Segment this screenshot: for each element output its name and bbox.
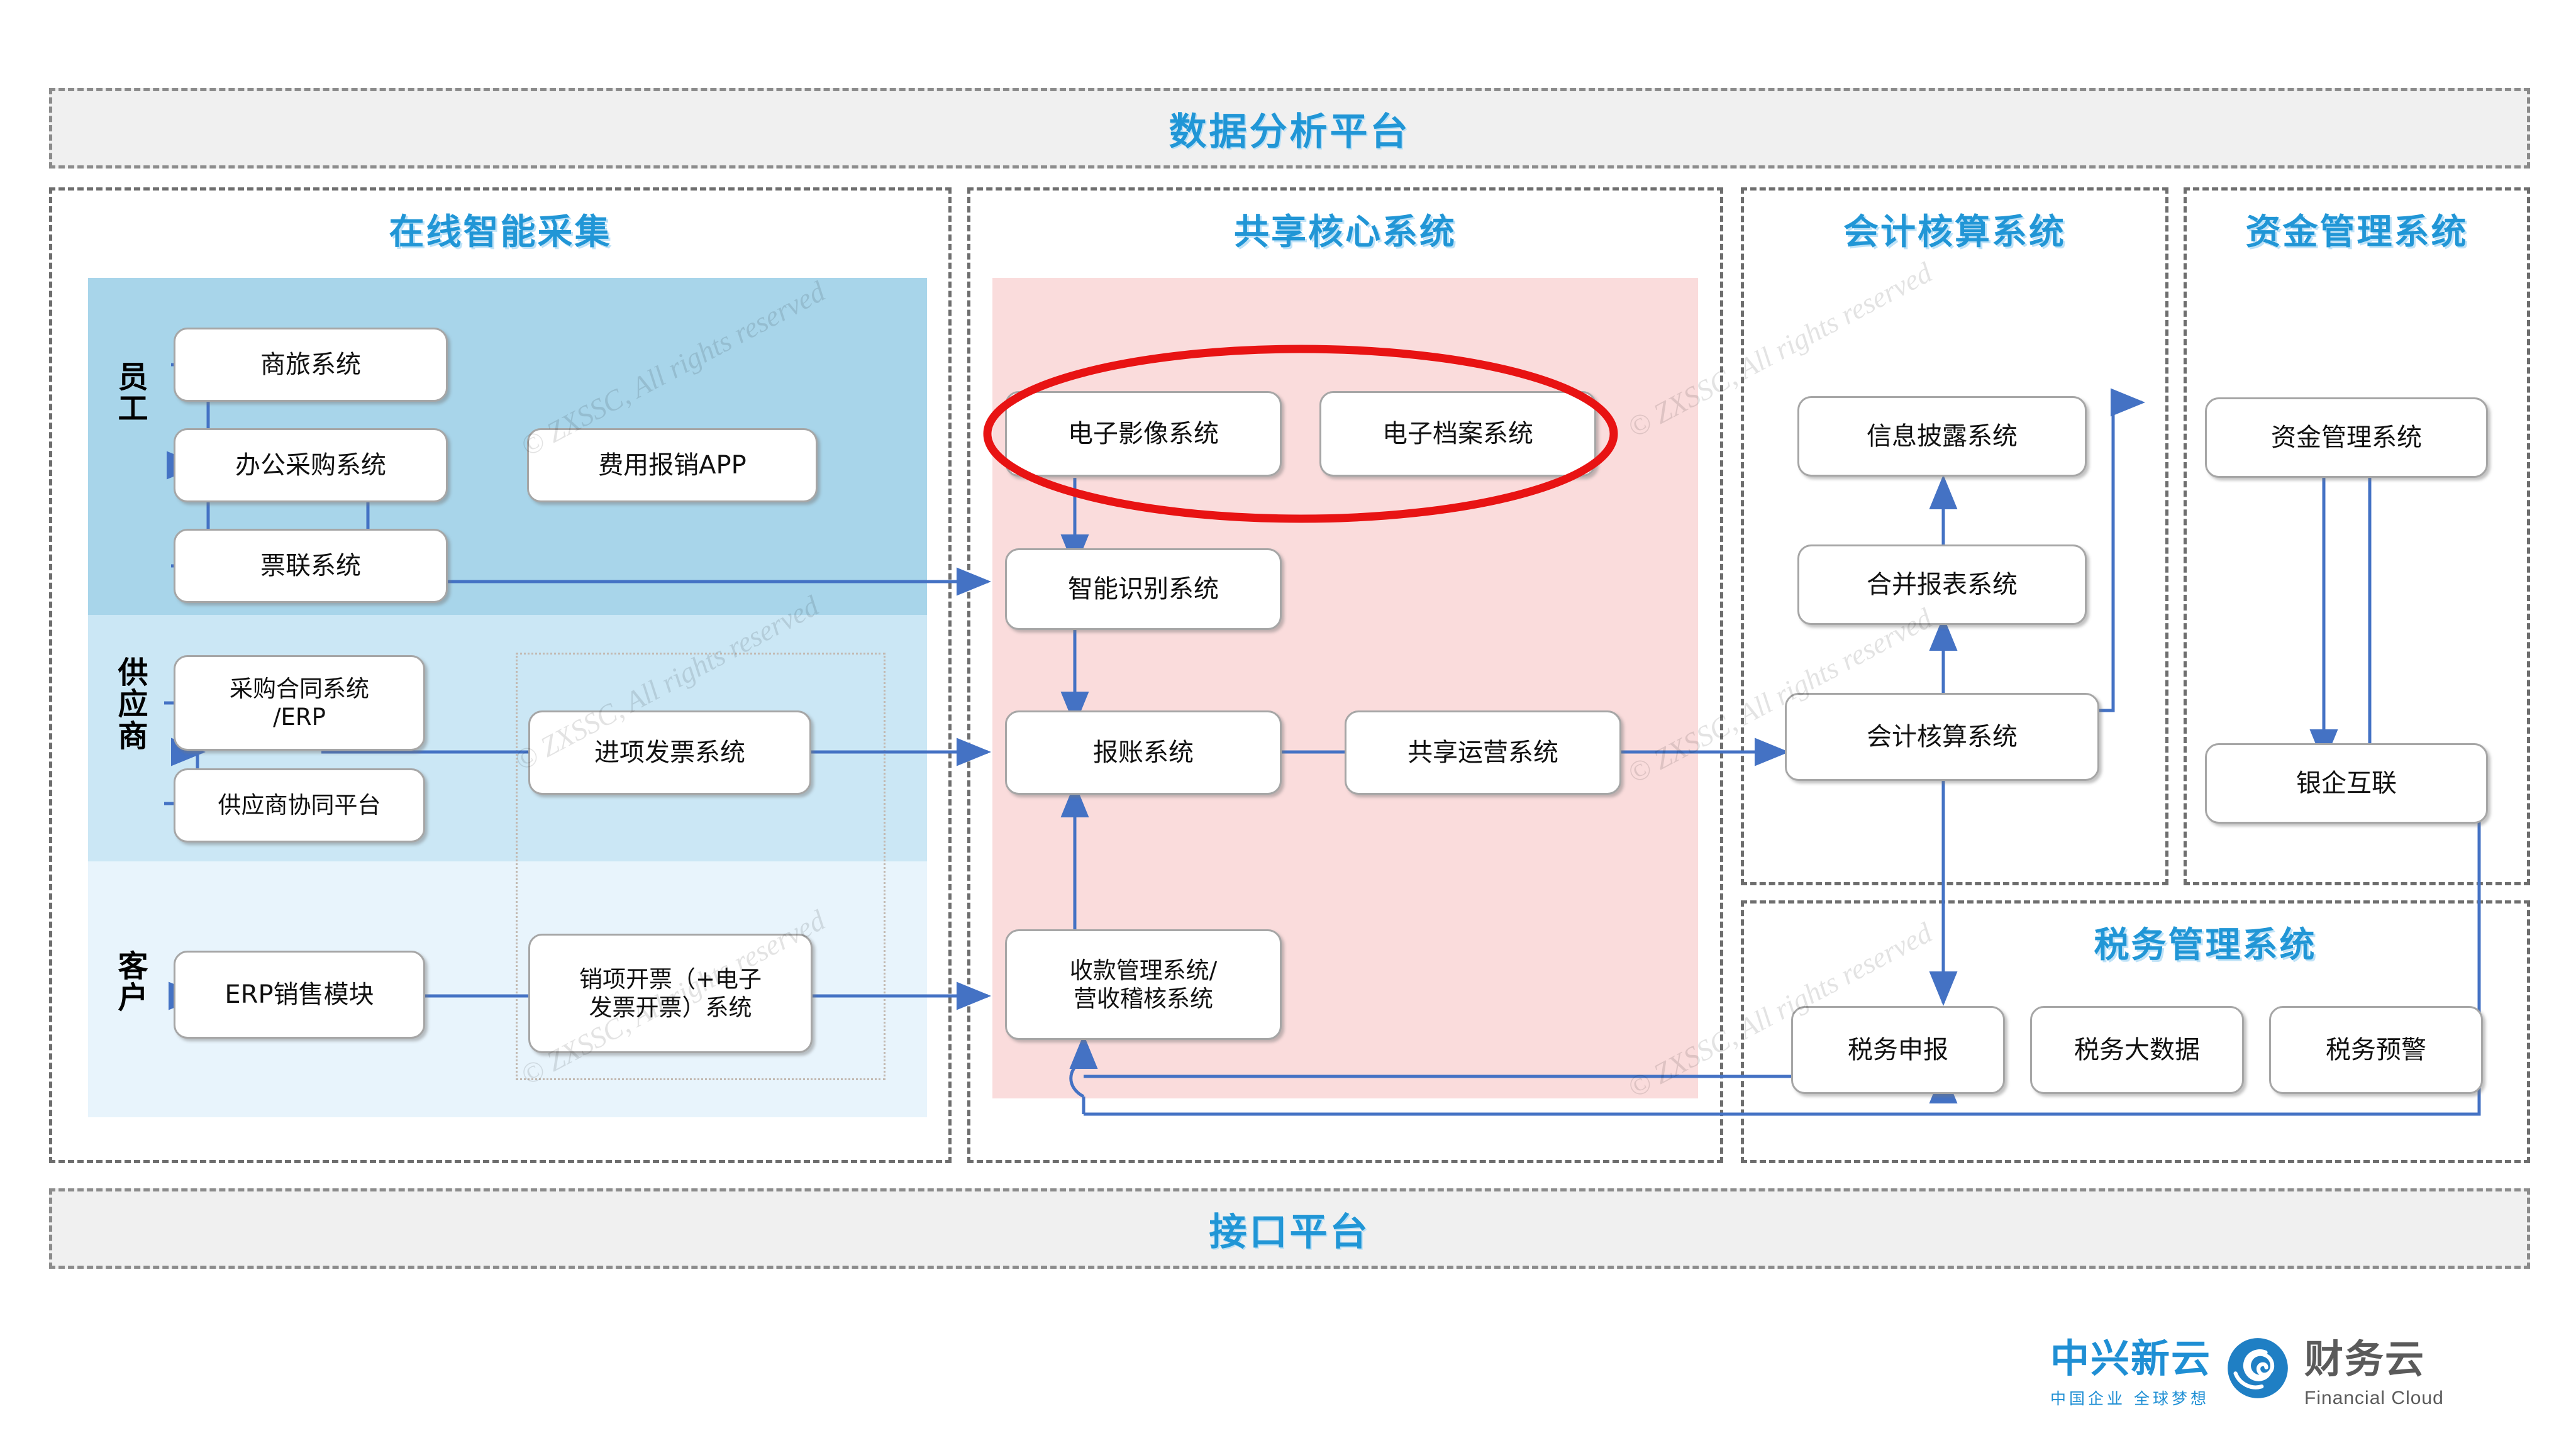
role-label-employee: 员 工: [99, 362, 167, 425]
node-electronic-archive-system[interactable]: 电子档案系统: [1319, 391, 1596, 477]
node-consolidated-report-system[interactable]: 合并报表系统: [1797, 544, 2087, 625]
logo-brand-block: 中兴新云 中国企业 全球梦想: [2050, 1327, 2211, 1409]
logo-product-block: 财务云 Financial Cloud: [2304, 1327, 2444, 1409]
node-travel-system[interactable]: 商旅系统: [174, 328, 448, 402]
panel-title-online-collection: 在线智能采集: [49, 204, 952, 255]
node-tax-declaration[interactable]: 税务申报: [1791, 1006, 2005, 1094]
interface-platform-title: 接口平台: [1209, 1202, 1370, 1256]
logo-brand-name: 中兴新云: [2050, 1327, 2211, 1383]
logo-product-subtitle: Financial Cloud: [2304, 1388, 2444, 1409]
interface-platform-band: 接口平台: [49, 1188, 2530, 1269]
node-information-disclosure-system[interactable]: 信息披露系统: [1797, 396, 2087, 477]
node-accounting-system[interactable]: 会计核算系统: [1785, 693, 2099, 781]
node-intelligent-recognition-system[interactable]: 智能识别系统: [1005, 548, 1282, 630]
panel-title-shared-core: 共享核心系统: [967, 204, 1723, 255]
node-supplier-collaboration-platform[interactable]: 供应商协同平台: [174, 768, 425, 843]
data-analysis-platform-title: 数据分析平台: [1169, 101, 1411, 156]
logo-product-name: 财务云: [2304, 1327, 2425, 1384]
node-electronic-image-system[interactable]: 电子影像系统: [1005, 391, 1282, 477]
role-label-customer: 客 户: [99, 951, 167, 1014]
data-analysis-platform-band: 数据分析平台: [49, 88, 2530, 169]
node-ticket-system[interactable]: 票联系统: [174, 529, 448, 603]
node-collection-management-system[interactable]: 收款管理系统/ 营收稽核系统: [1005, 929, 1282, 1040]
node-purchase-contract-erp[interactable]: 采购合同系统 /ERP: [174, 655, 425, 751]
node-erp-sales-module[interactable]: ERP销售模块: [174, 951, 425, 1039]
node-fund-management-system[interactable]: 资金管理系统: [2205, 397, 2488, 478]
node-shared-operation-system[interactable]: 共享运营系统: [1345, 710, 1621, 795]
role-label-supplier: 供 应 商: [99, 657, 167, 752]
cloud-swirl-icon: [2225, 1335, 2290, 1401]
panel-title-tax: 税务管理系统: [1880, 917, 2530, 968]
node-tax-big-data[interactable]: 税务大数据: [2030, 1006, 2244, 1094]
panel-title-treasury: 资金管理系统: [2184, 204, 2530, 255]
node-accounting-entry-system[interactable]: 报账系统: [1005, 710, 1282, 795]
node-office-purchase-system[interactable]: 办公采购系统: [174, 428, 448, 502]
panel-title-accounting: 会计核算系统: [1741, 204, 2168, 255]
node-bank-enterprise-connection[interactable]: 银企互联: [2205, 743, 2488, 824]
logo-brand-tagline: 中国企业 全球梦想: [2050, 1386, 2209, 1409]
company-logo: 中兴新云 中国企业 全球梦想 财务云 Financial Cloud: [2050, 1327, 2444, 1409]
node-tax-warning[interactable]: 税务预警: [2269, 1006, 2483, 1094]
